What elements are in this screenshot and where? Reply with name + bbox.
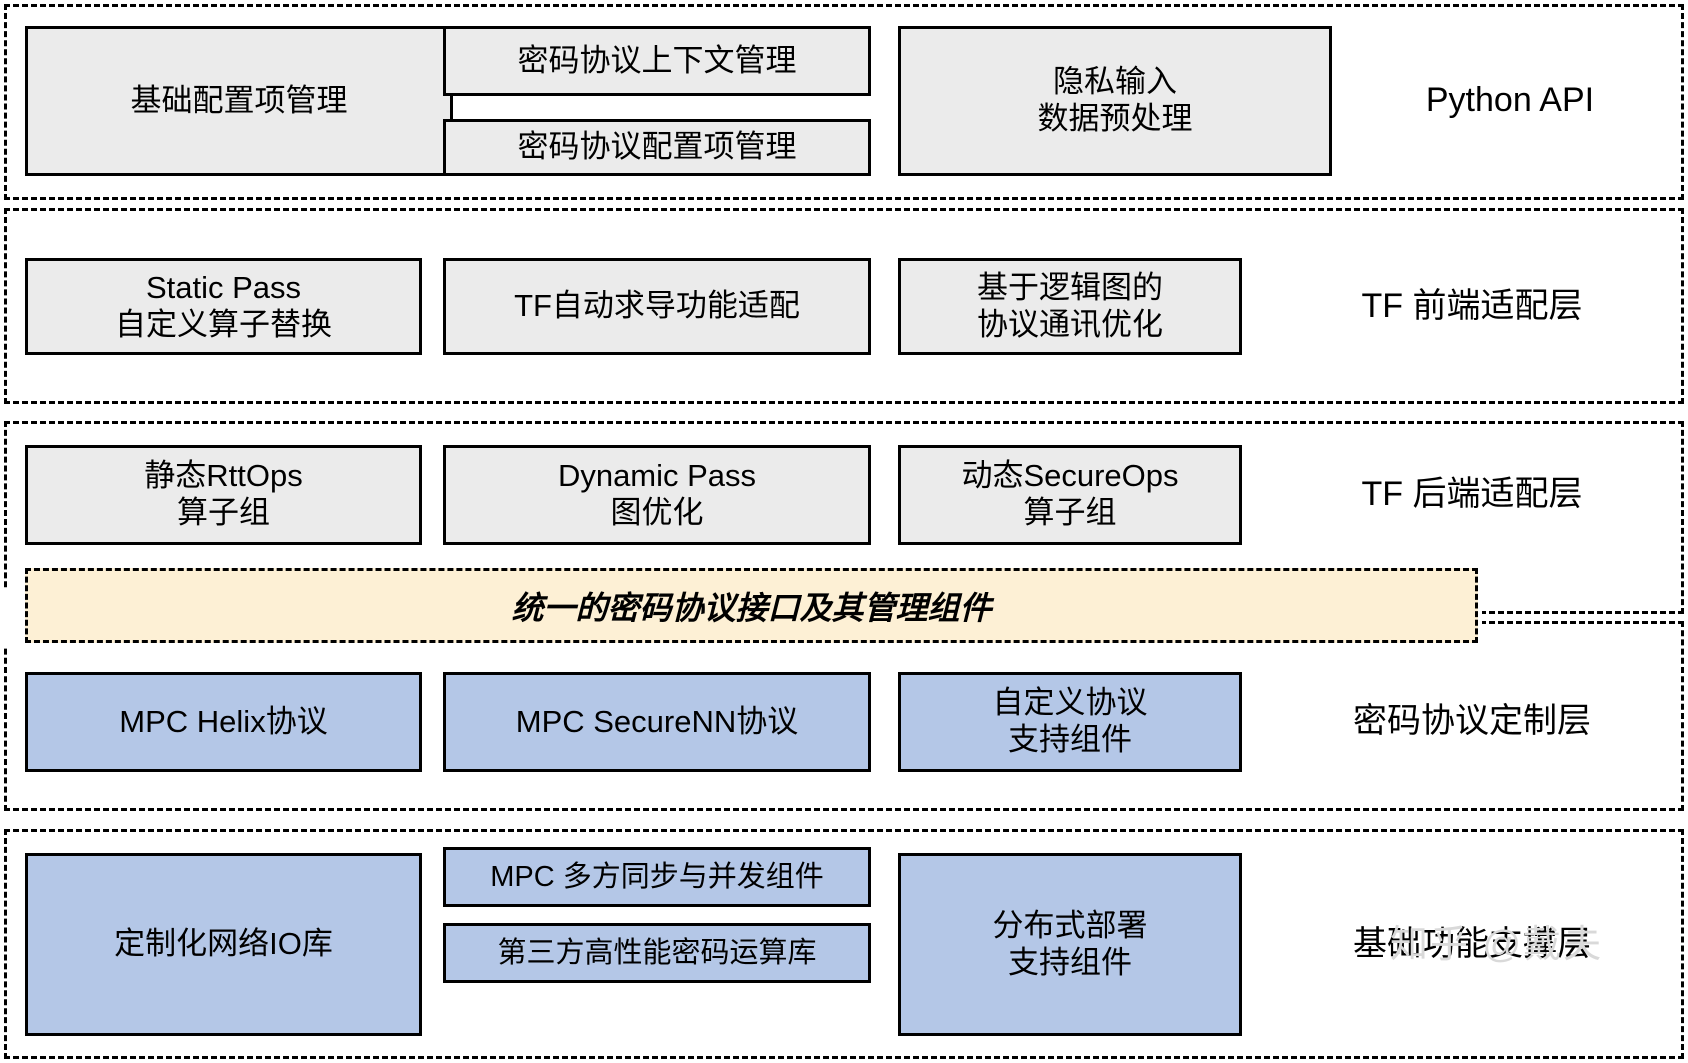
box-static-rttops-group[interactable]: 静态RttOps 算子组 <box>25 445 422 545</box>
box-private-input-preprocessing[interactable]: 隐私输入 数据预处理 <box>898 26 1332 176</box>
architecture-diagram: 基础配置项管理 密码协议上下文管理 密码协议配置项管理 隐私输入 数据预处理 P… <box>0 0 1688 1063</box>
box-dynamic-pass-graph-optimization[interactable]: Dynamic Pass 图优化 <box>443 445 871 545</box>
layer-label-tf-backend: TF 后端适配层 <box>1262 445 1682 545</box>
box-dynamic-secureops-group[interactable]: 动态SecureOps 算子组 <box>898 445 1242 545</box>
box-mpc-helix-protocol[interactable]: MPC Helix协议 <box>25 672 422 772</box>
box-tf-autodiff-adaptation[interactable]: TF自动求导功能适配 <box>443 258 871 355</box>
box-custom-protocol-support[interactable]: 自定义协议 支持组件 <box>898 672 1242 772</box>
layer-label-tf-frontend: TF 前端适配层 <box>1262 258 1682 355</box>
box-static-pass-custom-op-replace[interactable]: Static Pass 自定义算子替换 <box>25 258 422 355</box>
box-mpc-multiparty-sync-concurrency[interactable]: MPC 多方同步与并发组件 <box>443 847 871 907</box>
box-third-party-crypto-compute-library[interactable]: 第三方高性能密码运算库 <box>443 923 871 983</box>
band-unified-crypto-protocol-interface[interactable]: 统一的密码协议接口及其管理组件 <box>25 568 1478 643</box>
layer-label-protocol-customization: 密码协议定制层 <box>1262 672 1682 772</box>
border-mask-left <box>0 588 28 648</box>
box-logic-graph-protocol-comm-optimization[interactable]: 基于逻辑图的 协议通讯优化 <box>898 258 1242 355</box>
box-crypto-protocol-config-management[interactable]: 密码协议配置项管理 <box>443 119 871 176</box>
layer-label-python-api: Python API <box>1340 26 1680 176</box>
box-crypto-protocol-context-management[interactable]: 密码协议上下文管理 <box>443 26 871 96</box>
box-distributed-deployment-support[interactable]: 分布式部署 支持组件 <box>898 853 1242 1036</box>
box-base-config-management[interactable]: 基础配置项管理 <box>25 26 453 176</box>
box-custom-network-io-library[interactable]: 定制化网络IO库 <box>25 853 422 1036</box>
box-mpc-securenn-protocol[interactable]: MPC SecureNN协议 <box>443 672 871 772</box>
layer-label-base-support: 基础功能支撑层 <box>1262 853 1682 1036</box>
